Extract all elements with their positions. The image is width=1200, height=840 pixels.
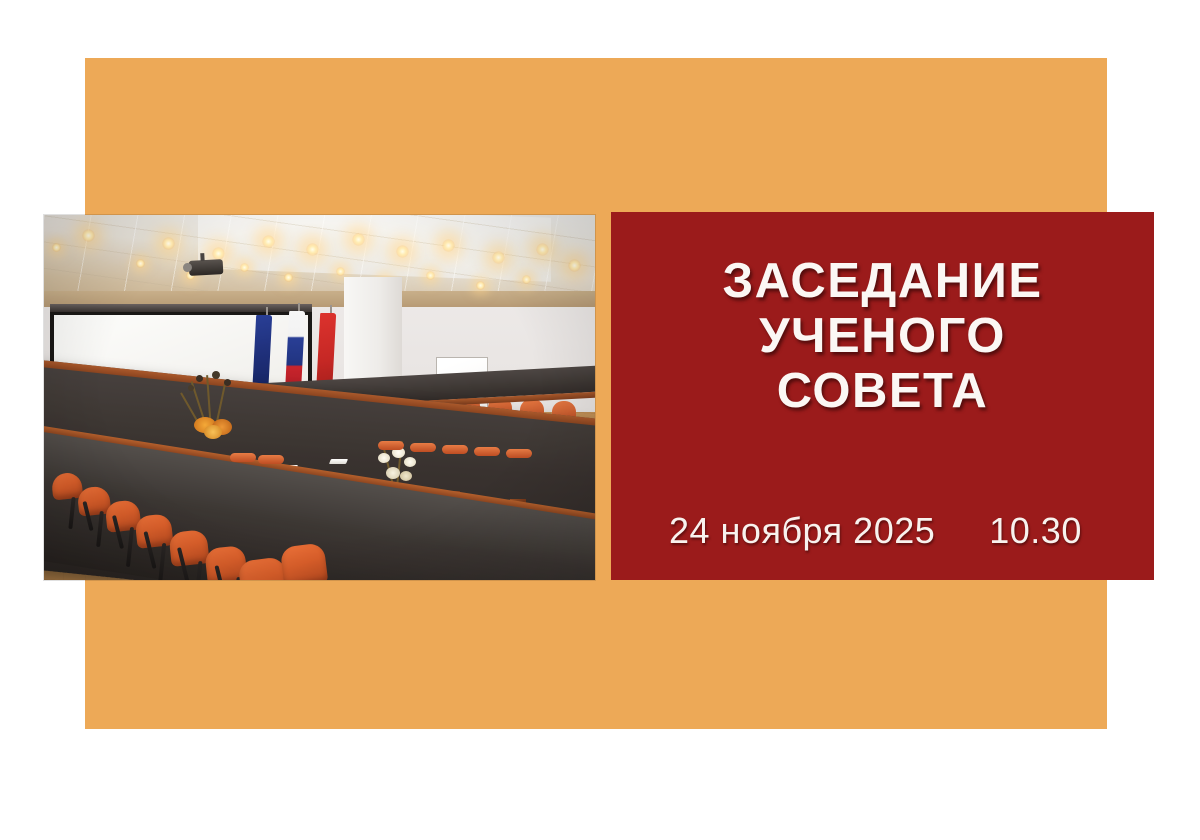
chair-seat [410,443,436,452]
event-date: 24 ноября 2025 [669,510,935,552]
flower-bud [196,375,203,382]
flower-bloom [404,457,416,467]
flower-bud [212,371,220,379]
ceiling-spotlight-icon [442,239,455,252]
ceiling-spotlight-icon [492,251,505,264]
chair [134,513,173,549]
title-line-2: УЧЕНОГО [641,309,1124,364]
ceiling-spotlight-icon [136,259,145,268]
chair [168,529,209,567]
announcement-card: ЗАСЕДАНИЕ УЧЕНОГО СОВЕТА 24 ноября 2025 … [611,212,1154,580]
conference-hall-photo [44,215,595,580]
floral-arrangement [172,373,246,435]
chair-seat [378,441,404,450]
ceiling-spotlight-icon [522,275,531,284]
flower-bud [224,379,231,386]
chair-seat [442,445,468,454]
ceiling-spotlight-icon [536,243,549,256]
ceiling-projector-icon [189,259,224,276]
ceiling-spotlight-icon [396,245,409,258]
name-plate [329,459,348,464]
ceiling-spotlight-icon [82,229,95,242]
ceiling-grid [44,215,595,295]
announcement-meta: 24 ноября 2025 10.30 [641,510,1124,552]
ceiling-spotlight-icon [306,243,319,256]
flower-bloom [378,453,390,463]
chair-seat [230,453,256,462]
chair-seat [506,449,532,458]
ceiling-spotlight-icon [240,263,249,272]
ceiling-spotlight-icon [52,243,61,252]
chair-seat [258,455,284,464]
photo-scene [44,215,595,580]
title-line-3: СОВЕТА [641,364,1124,419]
ceiling-spotlight-icon [162,237,175,250]
event-time: 10.30 [989,510,1082,552]
flower-bloom [386,467,400,479]
poster-canvas: ЗАСЕДАНИЕ УЧЕНОГО СОВЕТА 24 ноября 2025 … [0,0,1200,840]
ceiling-spotlight-icon [336,267,345,276]
ceiling [44,215,595,307]
chair [280,542,329,580]
ceiling-spotlight-icon [568,259,581,272]
flower-bloom [400,471,412,481]
ceiling-spotlight-icon [426,271,435,280]
ceiling-spotlight-icon [284,273,293,282]
announcement-title: ЗАСЕДАНИЕ УЧЕНОГО СОВЕТА [641,254,1124,419]
flower-bloom [204,425,222,439]
flower-bud [188,385,194,391]
ceiling-spotlight-icon [262,235,275,248]
screen-mount [50,304,312,312]
chair-seat [474,447,500,456]
ceiling-spotlight-icon [352,233,365,246]
ceiling-spotlight-icon [476,281,485,290]
ceiling-spotlight-icon [212,247,225,260]
title-line-1: ЗАСЕДАНИЕ [641,254,1124,309]
